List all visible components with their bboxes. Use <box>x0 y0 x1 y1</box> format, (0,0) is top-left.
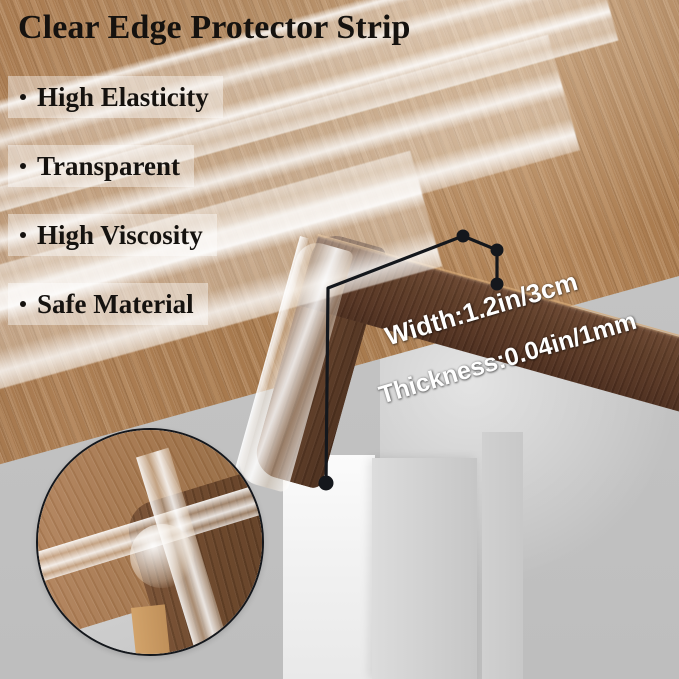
floor-light-patch <box>283 455 375 679</box>
bullet-dot-icon <box>20 163 26 169</box>
feature-label: High Viscosity <box>37 220 203 250</box>
bullet-dot-icon <box>20 301 26 307</box>
feature-label: Safe Material <box>37 289 194 319</box>
table-leg-back <box>482 432 523 679</box>
inset-table-leg <box>131 604 171 656</box>
feature-list: High Elasticity Transparent High Viscosi… <box>8 76 338 352</box>
feature-item-high-elasticity: High Elasticity <box>8 76 223 118</box>
page-title: Clear Edge Protector Strip <box>18 8 411 48</box>
bullet-dot-icon <box>20 94 26 100</box>
feature-label: Transparent <box>37 151 180 181</box>
table-leg-front <box>372 458 477 679</box>
product-image-scene: Width:1.2in/3cm Thickness:0.04in/1mm Cle… <box>0 0 679 679</box>
corner-closeup-inset <box>36 428 264 656</box>
feature-item-high-viscosity: High Viscosity <box>8 214 217 256</box>
bullet-dot-icon <box>20 232 26 238</box>
feature-item-safe-material: Safe Material <box>8 283 208 325</box>
feature-label: High Elasticity <box>37 82 209 112</box>
feature-item-transparent: Transparent <box>8 145 194 187</box>
inset-strip-rounded-corner <box>130 524 194 588</box>
